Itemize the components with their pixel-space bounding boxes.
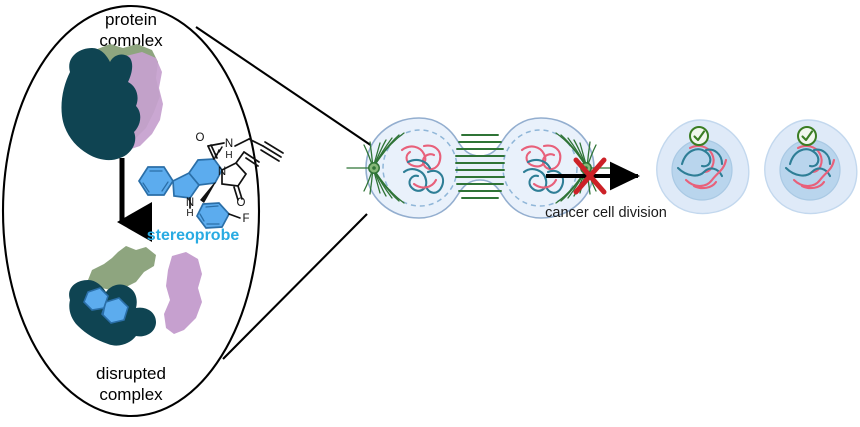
atom-label-oxygen-bottom: O [237,197,246,209]
atom-label-nitrogen-amide: N [225,138,233,150]
check-circle-2 [798,127,816,145]
check-circle-1 [690,127,708,145]
cell-membrane-dividing [366,118,594,218]
atom-label-fluorine: F [242,213,249,225]
disrupted-complex-label-line1: disrupted [96,364,166,383]
atom-label-nitrogen-ring: N [218,166,226,178]
atom-label-hydrogen-indole: H [186,208,193,219]
figure-canvas: protein complex [0,0,860,422]
stereoprobe-label: stereoprobe [147,227,240,244]
arrested-cell-1 [657,120,749,214]
disrupted-complex-label-line2: complex [99,385,163,404]
green-check-badge-icon-1 [690,127,708,145]
protein-complex-label-line1: protein [105,10,157,29]
green-check-badge-icon-2 [798,127,816,145]
atom-label-hydrogen-amide: H [225,150,232,161]
arrested-cell-2 [765,120,857,214]
scientific-figure: protein complex [0,0,860,422]
cancer-cell-division-label: cancer cell division [545,205,667,221]
dividing-cancer-cell [347,118,613,218]
centriole-left [372,166,376,170]
atom-label-oxygen-top: O [196,132,205,144]
